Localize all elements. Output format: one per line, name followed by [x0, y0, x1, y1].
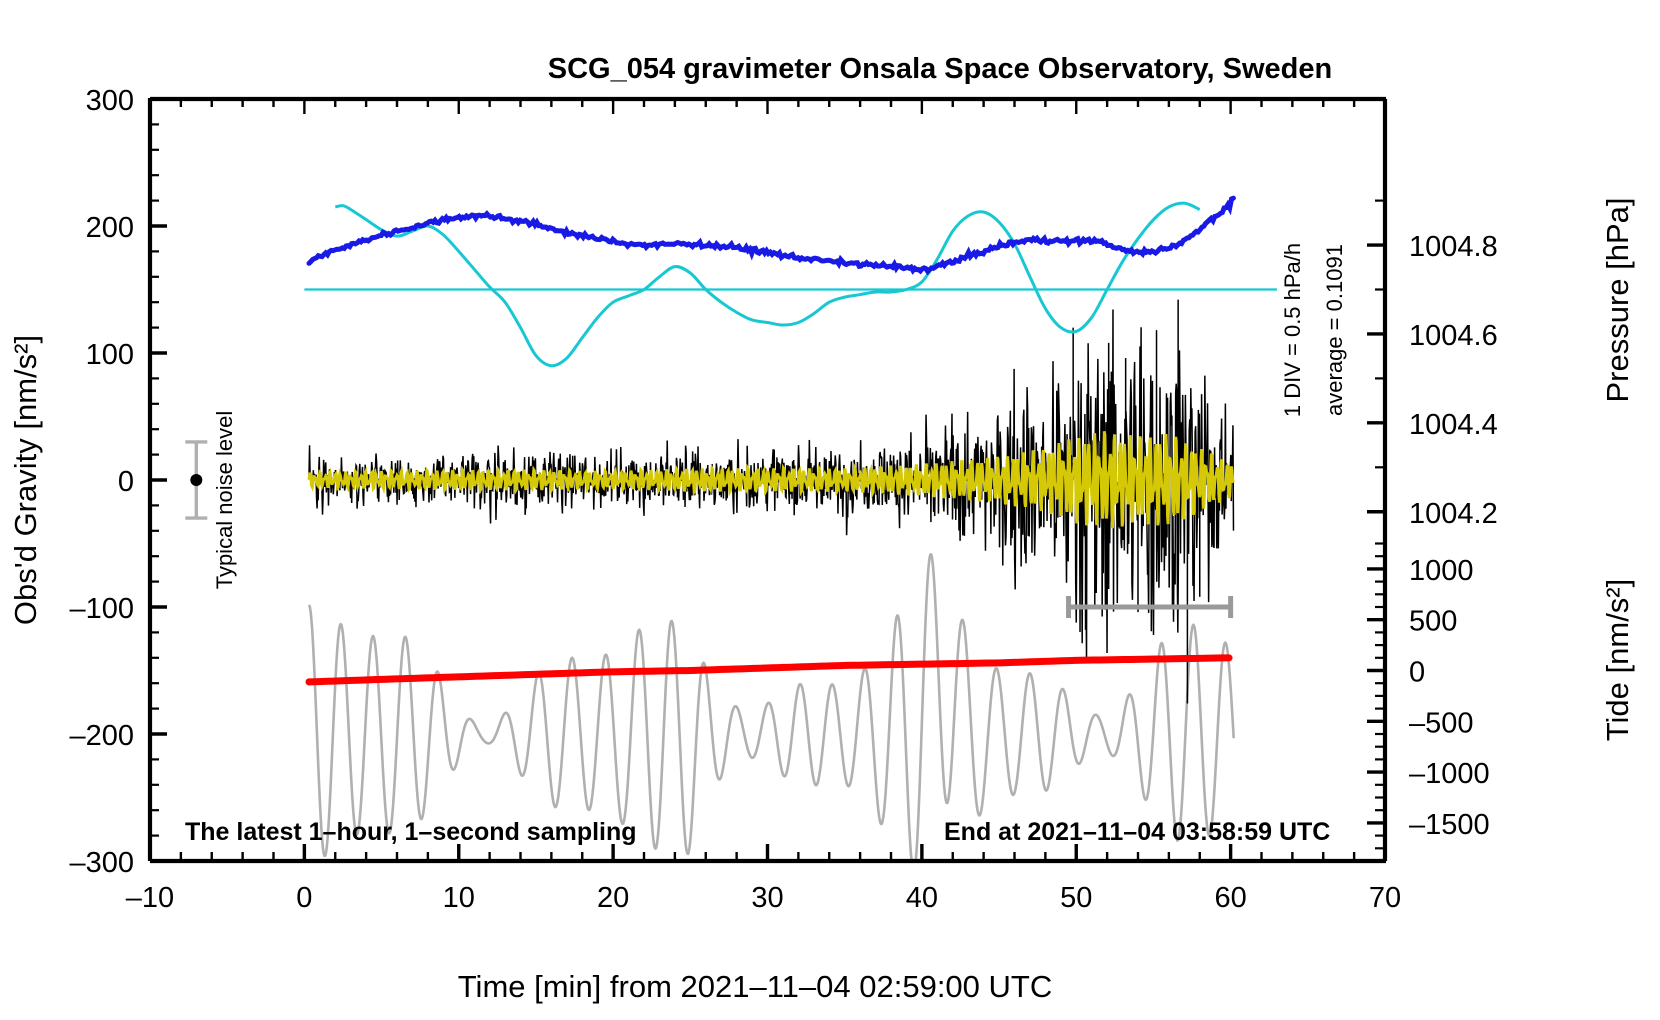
tide-tick-label: –1500	[1409, 809, 1490, 841]
dpdt-scale-annotation: 1 DIV = 0.5 hPa/h	[1280, 243, 1305, 417]
x-axis-label: Time [min] from 2021–11–04 02:59:00 UTC	[458, 969, 1052, 1004]
footer-left-note: The latest 1–hour, 1–second sampling	[185, 818, 637, 846]
gravimeter-plot: –100102030405060703002001000–100–200–300…	[0, 0, 1660, 1020]
x-tick-label: 70	[1369, 882, 1401, 914]
y-tick-label: 100	[86, 339, 134, 371]
y-tick-label: 200	[86, 212, 134, 244]
x-tick-label: 40	[906, 882, 938, 914]
pressure-tick-label: 1004.2	[1409, 498, 1498, 530]
x-tick-label: 30	[751, 882, 783, 914]
tide-tick-label: 0	[1409, 657, 1425, 689]
pressure-tick-label: 1004.8	[1409, 231, 1498, 263]
footer-right-note: End at 2021–11–04 03:58:59 UTC	[944, 818, 1330, 846]
page-title: SCG_054 gravimeter Onsala Space Observat…	[548, 53, 1332, 85]
tide-tick-label: –500	[1409, 707, 1474, 739]
y-tick-label: 300	[86, 85, 134, 117]
y-tick-label: 0	[118, 466, 134, 498]
x-tick-label: 50	[1060, 882, 1092, 914]
x-tick-label: 0	[296, 882, 312, 914]
x-tick-label: 10	[443, 882, 475, 914]
tide-axis-label: Tide [nm/s²]	[1600, 579, 1635, 742]
pressure-tick-label: 1004.4	[1409, 409, 1498, 441]
tide-tick-label: 1000	[1409, 555, 1474, 587]
noise-level-point	[190, 474, 202, 486]
typical-noise-level-annotation: Typical noise level	[212, 411, 237, 590]
dpdt-average-annotation: average = 0.1091	[1322, 244, 1347, 416]
y-axis-label: Obs'd Gravity [nm/s²]	[8, 335, 43, 625]
x-tick-label: –10	[126, 882, 174, 914]
pressure-axis-label: Pressure [hPa]	[1600, 197, 1635, 402]
chart-canvas: –100102030405060703002001000–100–200–300…	[0, 0, 1660, 1020]
x-tick-label: 20	[597, 882, 629, 914]
y-tick-label: –200	[69, 720, 134, 752]
y-tick-label: –100	[69, 593, 134, 625]
tide-tick-label: –1000	[1409, 758, 1490, 790]
pressure-tick-label: 1004.6	[1409, 320, 1498, 352]
x-tick-label: 60	[1214, 882, 1246, 914]
y-tick-label: –300	[69, 847, 134, 879]
tide-tick-label: 500	[1409, 606, 1457, 638]
